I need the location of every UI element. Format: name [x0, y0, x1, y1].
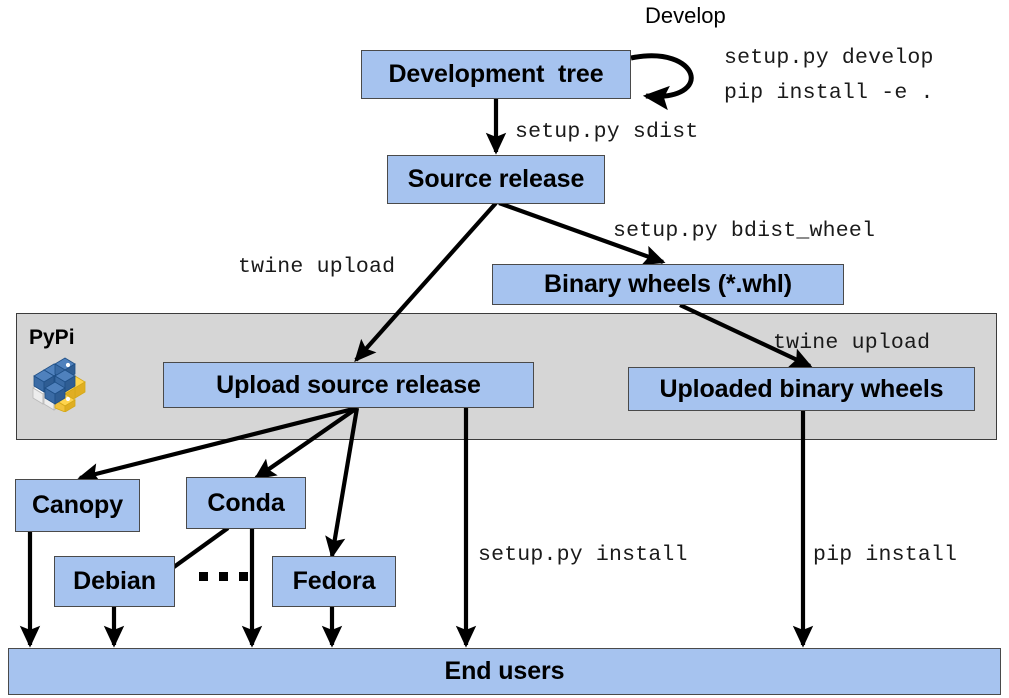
label-twine-upload-source: twine upload: [238, 255, 395, 279]
ellipsis-marker: [199, 572, 248, 581]
label-setup-py-sdist: setup.py sdist: [515, 120, 698, 144]
node-binary-wheels[interactable]: Binary wheels (*.whl): [492, 264, 844, 305]
python-isometric-logo: [27, 354, 89, 412]
node-conda[interactable]: Conda: [186, 477, 306, 529]
diagram-canvas: PyPi: [0, 0, 1009, 698]
label-setup-py-bdist-wheel: setup.py bdist_wheel: [613, 219, 875, 243]
label-pip-install: pip install: [813, 543, 957, 567]
label-twine-upload-wheels: twine upload: [773, 331, 930, 355]
node-development-tree[interactable]: Development tree: [361, 50, 631, 99]
pypi-panel-label: PyPi: [29, 326, 75, 350]
node-uploaded-binary-wheels[interactable]: Uploaded binary wheels: [628, 367, 975, 411]
node-end-users[interactable]: End users: [8, 648, 1001, 695]
node-fedora[interactable]: Fedora: [272, 556, 396, 607]
node-upload-source-release[interactable]: Upload source release: [163, 362, 534, 408]
label-develop: Develop: [645, 3, 726, 29]
node-debian[interactable]: Debian: [54, 556, 175, 607]
node-canopy[interactable]: Canopy: [15, 479, 140, 532]
label-setup-py-install: setup.py install: [478, 543, 688, 567]
node-source-release[interactable]: Source release: [387, 155, 605, 204]
label-pip-install-editable: pip install -e .: [724, 81, 934, 105]
label-setup-py-develop: setup.py develop: [724, 46, 934, 70]
